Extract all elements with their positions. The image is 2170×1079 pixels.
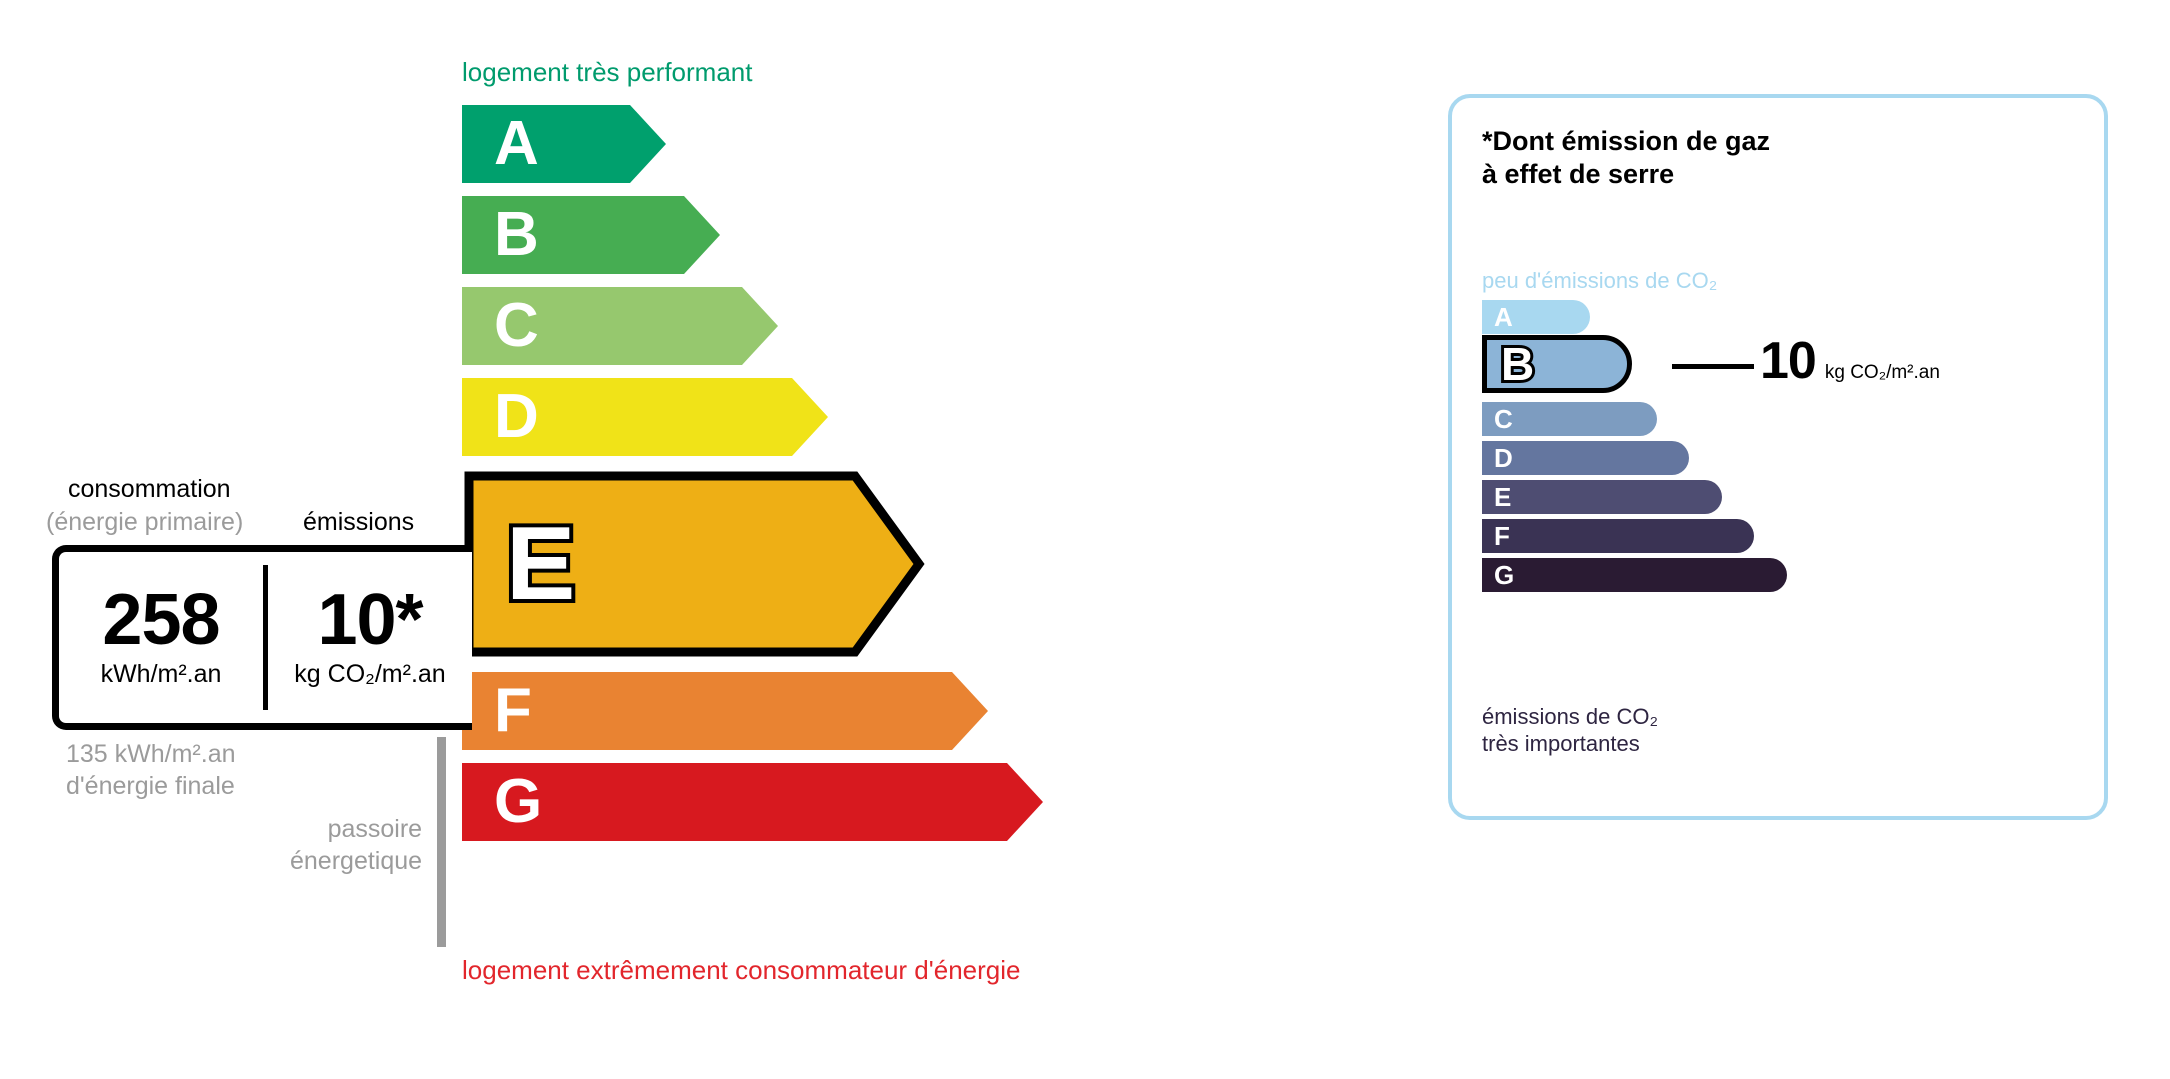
passoire-line-2: énergetique [290,845,422,877]
energy-class-row-C[interactable]: C [462,287,778,365]
energy-class-arrow-E [462,469,926,659]
energy-performance-panel: logement très performant ABCDEFG consomm… [0,0,1400,1079]
emissions-label: émissions [303,508,414,537]
co2-class-bar-G: G [1482,558,1787,592]
energy-class-arrow-B [462,196,720,274]
co2-class-letter-F: F [1494,523,1510,549]
energy-class-row-D[interactable]: D [462,378,828,456]
consumption-emission-value-box: 258 kWh/m².an 10* kg CO₂/m².an [52,545,472,730]
co2-panel-title: *Dont émission de gaz à effet de serre [1482,125,1770,191]
co2-class-bar-F: F [1482,519,1754,553]
co2-value-group: 10kg CO₂/m².an [1760,335,1940,387]
co2-class-row-A[interactable]: A [1482,300,1787,334]
co2-class-letter-A: A [1494,304,1513,330]
energy-class-arrow-F [462,672,988,750]
energy-class-arrow-C [462,287,778,365]
co2-class-bar-A: A [1482,300,1590,334]
co2-class-row-F[interactable]: F [1482,519,1787,553]
co2-class-letter-C: C [1494,406,1513,432]
co2-class-bar-E: E [1482,480,1722,514]
final-energy-line-2: d'énergie finale [66,770,236,802]
co2-bottom-line-1: émissions de CO₂ [1482,703,1658,730]
final-energy-note: 135 kWh/m².an d'énergie finale [66,738,236,802]
co2-emissions-panel: *Dont émission de gaz à effet de serre p… [1448,94,2108,820]
energy-class-arrow-list: ABCDEFG [462,105,1043,854]
co2-class-row-E[interactable]: E [1482,480,1787,514]
co2-class-row-C[interactable]: C [1482,402,1787,436]
co2-value: 10 [1760,335,1816,387]
energy-class-row-G[interactable]: G [462,763,1043,841]
energy-bottom-caption: logement extrêmement consommateur d'éner… [462,955,1020,986]
passoire-line-1: passoire [290,813,422,845]
co2-class-letter-B: B [1501,341,1534,387]
passoire-indicator-bar [437,737,446,947]
consumption-unit: kWh/m².an [59,660,263,689]
consumption-cell: 258 kWh/m².an [59,586,263,689]
co2-class-row-G[interactable]: G [1482,558,1787,592]
emission-cell: 10* kg CO₂/m².an [268,586,472,689]
energy-class-arrow-G [462,763,1043,841]
energy-class-arrow-D [462,378,828,456]
energy-class-row-B[interactable]: B [462,196,720,274]
energie-primaire-label: (énergie primaire) [46,508,243,537]
co2-class-row-D[interactable]: D [1482,441,1787,475]
energy-class-row-F[interactable]: F [462,672,988,750]
co2-top-caption: peu d'émissions de CO₂ [1482,268,1717,294]
final-energy-line-1: 135 kWh/m².an [66,738,236,770]
energy-class-arrow-A [462,105,666,183]
energy-class-row-A[interactable]: A [462,105,666,183]
co2-value-unit: kg CO₂/m².an [1825,362,1940,384]
co2-class-bar-B: B [1482,335,1632,393]
co2-title-line-1: *Dont émission de gaz [1482,125,1770,158]
co2-class-letter-G: G [1494,562,1514,588]
co2-leader-line [1672,364,1754,369]
consumption-value: 258 [59,586,263,654]
co2-class-letter-D: D [1494,445,1513,471]
co2-bottom-caption: émissions de CO₂ très importantes [1482,703,1658,758]
co2-class-letter-E: E [1494,484,1511,510]
emission-value: 10* [268,586,472,654]
co2-class-bar-C: C [1482,402,1657,436]
co2-class-row-B[interactable]: B10kg CO₂/m².an [1482,335,1787,399]
emission-unit: kg CO₂/m².an [268,660,472,689]
co2-title-line-2: à effet de serre [1482,158,1770,191]
energy-class-row-E[interactable]: E [462,469,926,659]
energy-top-caption: logement très performant [462,57,752,88]
co2-bottom-line-2: très importantes [1482,730,1658,757]
passoire-energetique-note: passoire énergetique [290,813,422,877]
co2-class-bar-D: D [1482,441,1689,475]
consommation-label: consommation [68,475,231,504]
co2-class-bar-list: AB10kg CO₂/m².anCDEFG [1482,300,1787,597]
